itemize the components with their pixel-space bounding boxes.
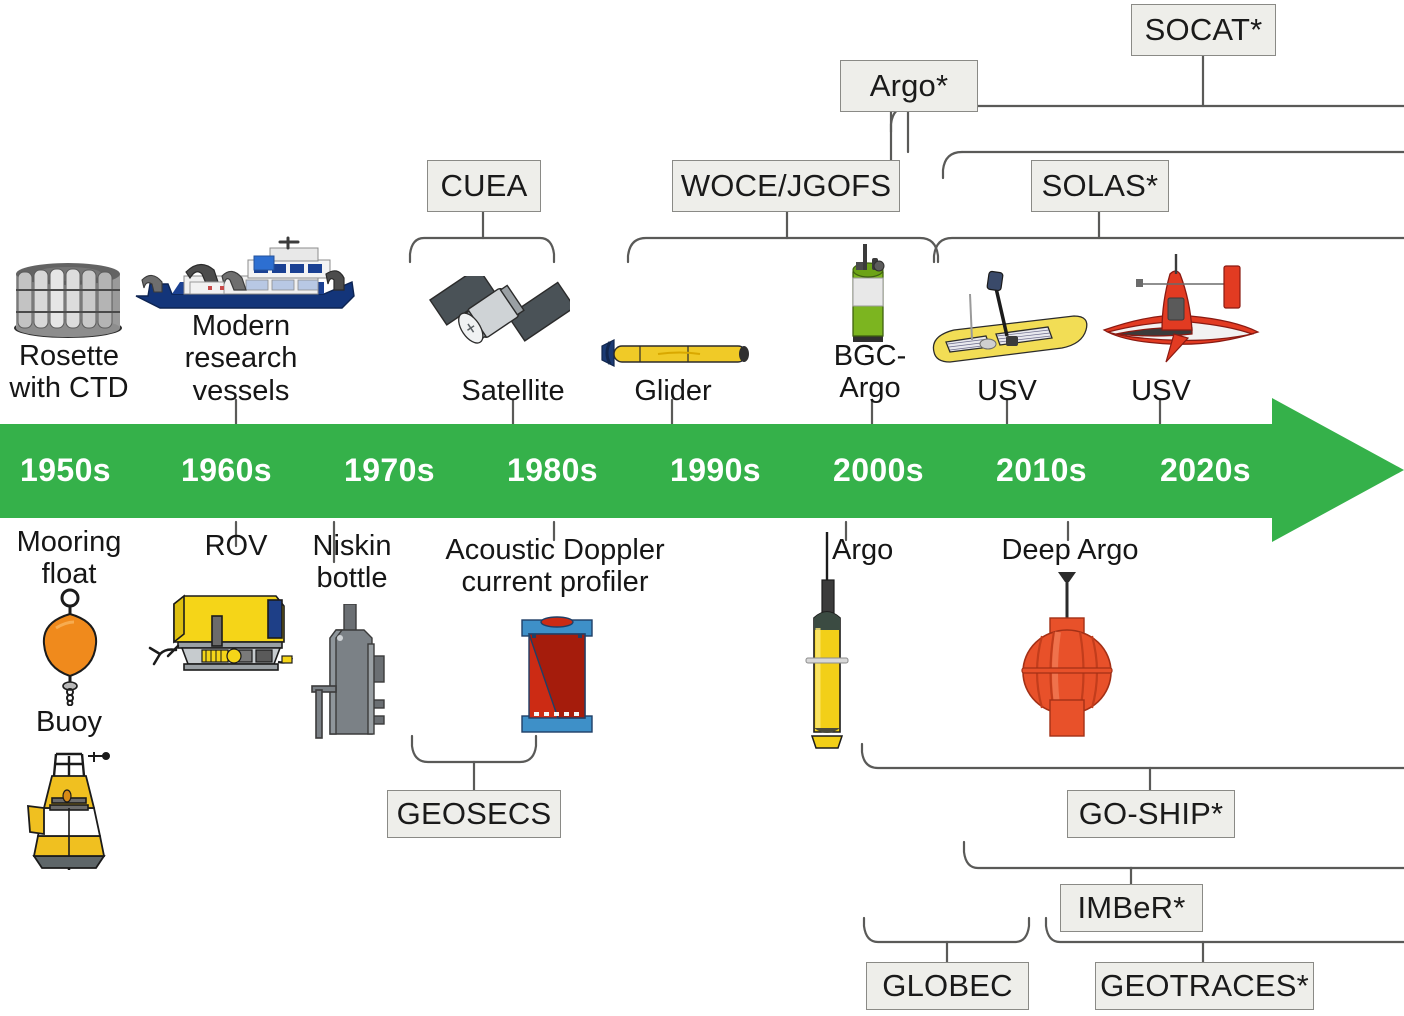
glider-icon bbox=[600, 336, 752, 374]
decade-label-2010s: 2010s bbox=[996, 452, 1087, 489]
decade-label-1950s: 1950s bbox=[20, 452, 111, 489]
caption-usv-saildrone: USV bbox=[1108, 375, 1214, 407]
programme-box-argo[interactable]: Argo* bbox=[840, 60, 978, 112]
caption-rosette-with-ctd: Rosette with CTD bbox=[0, 340, 138, 405]
decade-label-1980s: 1980s bbox=[507, 452, 598, 489]
programme-box-imber[interactable]: IMBeR* bbox=[1060, 884, 1203, 932]
satellite-icon bbox=[424, 276, 570, 368]
mooring-float-icon bbox=[40, 588, 100, 706]
caption-mooring-float: Mooring float bbox=[0, 526, 138, 591]
timeline-figure: 1950s 1960s 1970s 1980s 1990s 2000s 2010… bbox=[0, 0, 1404, 1016]
caption-glider: Glider bbox=[612, 375, 734, 407]
programme-box-geotraces[interactable]: GEOTRACES* bbox=[1095, 962, 1314, 1010]
timeline-arrow bbox=[0, 0, 1404, 1016]
caption-niskin-bottle: Niskin bottle bbox=[286, 530, 418, 595]
decade-label-2000s: 2000s bbox=[833, 452, 924, 489]
programme-box-geosecs[interactable]: GEOSECS bbox=[387, 790, 561, 838]
niskin-bottle-icon bbox=[302, 604, 398, 740]
caption-deep-argo: Deep Argo bbox=[992, 534, 1148, 566]
buoy-icon bbox=[14, 750, 124, 870]
rosette-ctd-icon bbox=[8, 252, 128, 340]
caption-usv-wave-glider: USV bbox=[954, 375, 1060, 407]
programme-box-globec[interactable]: GLOBEC bbox=[866, 962, 1029, 1010]
deep-argo-float-icon bbox=[1008, 568, 1126, 740]
caption-satellite: Satellite bbox=[440, 375, 586, 407]
argo-float-icon bbox=[798, 532, 856, 756]
caption-bgc-argo: BGC- Argo bbox=[818, 340, 922, 405]
decade-label-1990s: 1990s bbox=[670, 452, 761, 489]
programme-box-solas[interactable]: SOLAS* bbox=[1031, 160, 1169, 212]
decade-label-1960s: 1960s bbox=[181, 452, 272, 489]
programme-box-cuea[interactable]: CUEA bbox=[427, 160, 541, 212]
adcp-icon bbox=[518, 612, 596, 736]
usv-saildrone-icon bbox=[1096, 246, 1268, 364]
decade-label-1970s: 1970s bbox=[344, 452, 435, 489]
programme-box-socat[interactable]: SOCAT* bbox=[1131, 4, 1276, 56]
decade-label-2020s: 2020s bbox=[1160, 452, 1251, 489]
programme-box-goship[interactable]: GO-SHIP* bbox=[1067, 790, 1235, 838]
rov-icon bbox=[148, 586, 294, 674]
caption-buoy: Buoy bbox=[0, 706, 138, 738]
caption-modern-research-vessels: Modern research vessels bbox=[166, 310, 316, 407]
bgc-argo-float-icon bbox=[836, 238, 900, 348]
usv-wave-glider-icon bbox=[924, 264, 1090, 372]
caption-rov: ROV bbox=[168, 530, 304, 562]
caption-acoustic-doppler-current-profiler: Acoustic Doppler current profiler bbox=[428, 534, 682, 599]
programme-box-woce-jgofs[interactable]: WOCE/JGOFS bbox=[672, 160, 900, 212]
research-vessel-icon bbox=[128, 236, 358, 316]
